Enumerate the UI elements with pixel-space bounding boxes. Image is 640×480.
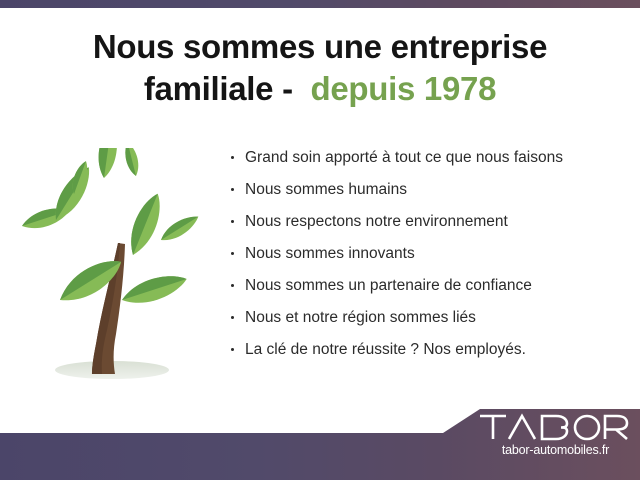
leaf-right-upper bbox=[123, 190, 167, 259]
bullet-dot-icon bbox=[231, 188, 234, 191]
bullet-dot-icon bbox=[231, 156, 234, 159]
benefits-list: Grand soin apporté à tout ce que nous fa… bbox=[228, 148, 628, 371]
top-accent-bar bbox=[0, 0, 640, 8]
list-item-label: La clé de notre réussite ? Nos employés. bbox=[245, 341, 526, 358]
leaf-top-right-small bbox=[122, 148, 141, 177]
slide-canvas: Nous sommes une entreprise familiale - d… bbox=[0, 0, 640, 480]
list-item-label: Grand soin apporté à tout ce que nous fa… bbox=[245, 149, 563, 166]
list-item: Nous et notre région sommes liés bbox=[228, 308, 628, 329]
list-item: Nous sommes un partenaire de confiance bbox=[228, 276, 628, 297]
list-item: Nous sommes humains bbox=[228, 180, 628, 201]
tabor-wordmark-icon bbox=[478, 412, 630, 442]
brand-logo[interactable]: tabor-automobiles.fr bbox=[478, 412, 633, 457]
page-title-line2-main: familiale - bbox=[144, 70, 311, 107]
logo-tagline: tabor-automobiles.fr bbox=[478, 443, 633, 457]
list-item-label: Nous sommes un partenaire de confiance bbox=[245, 277, 532, 294]
leaf-right-outer bbox=[157, 211, 202, 246]
list-item: Nous respectons notre environnement bbox=[228, 212, 628, 233]
bullet-dot-icon bbox=[231, 284, 234, 287]
leaf-right-lower bbox=[119, 269, 190, 310]
tree-illustration bbox=[12, 148, 222, 393]
bullet-dot-icon bbox=[231, 220, 234, 223]
page-title-accent: depuis 1978 bbox=[311, 70, 497, 107]
bullet-dot-icon bbox=[231, 316, 234, 319]
list-item-label: Nous sommes innovants bbox=[245, 245, 415, 262]
tree-illustration-svg bbox=[12, 148, 222, 393]
list-item: Nous sommes innovants bbox=[228, 244, 628, 265]
list-item-label: Nous respectons notre environnement bbox=[245, 213, 508, 230]
page-title-line1: Nous sommes une entreprise bbox=[93, 28, 547, 65]
page-title-line2: familiale - depuis 1978 bbox=[0, 68, 640, 110]
list-item: La clé de notre réussite ? Nos employés. bbox=[228, 340, 628, 361]
leaf-top-center bbox=[95, 148, 120, 179]
page-title: Nous sommes une entreprise familiale - d… bbox=[0, 26, 640, 110]
bullet-dot-icon bbox=[231, 252, 234, 255]
list-item-label: Nous sommes humains bbox=[245, 181, 407, 198]
bullet-dot-icon bbox=[231, 348, 234, 351]
list-item-label: Nous et notre région sommes liés bbox=[245, 309, 476, 326]
list-item: Grand soin apporté à tout ce que nous fa… bbox=[228, 148, 628, 169]
